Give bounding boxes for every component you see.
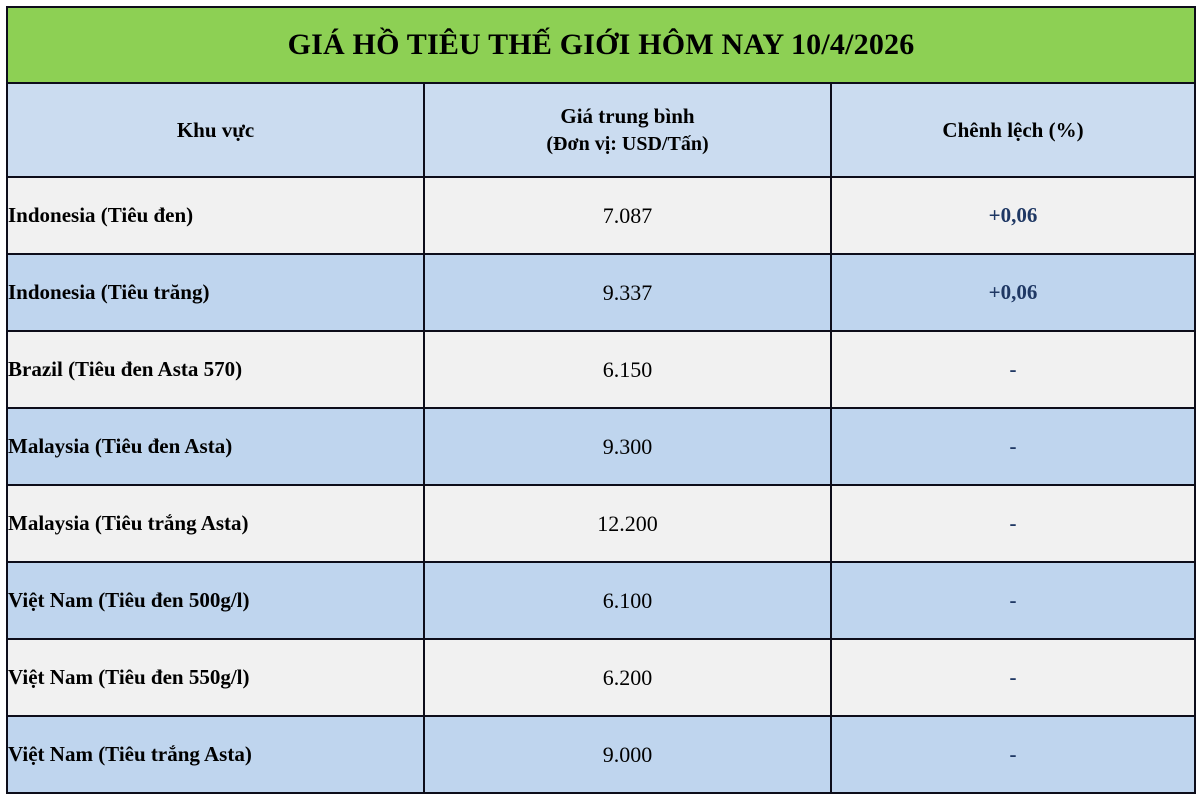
table-row: Việt Nam (Tiêu đen 500g/l)6.100- xyxy=(7,562,1195,639)
cell-price: 9.000 xyxy=(424,716,831,793)
cell-change: - xyxy=(831,716,1195,793)
cell-price: 6.100 xyxy=(424,562,831,639)
cell-region: Việt Nam (Tiêu trắng Asta) xyxy=(7,716,424,793)
table-row: Brazil (Tiêu đen Asta 570)6.150- xyxy=(7,331,1195,408)
cell-change: - xyxy=(831,331,1195,408)
cell-region: Việt Nam (Tiêu đen 500g/l) xyxy=(7,562,424,639)
table-head: GIÁ HỒ TIÊU THẾ GIỚI HÔM NAY 10/4/2026 K… xyxy=(7,7,1195,177)
cell-change: - xyxy=(831,562,1195,639)
cell-price: 6.200 xyxy=(424,639,831,716)
cell-region: Indonesia (Tiêu đen) xyxy=(7,177,424,254)
column-header-price-line1: Giá trung bình xyxy=(560,104,694,128)
cell-price: 7.087 xyxy=(424,177,831,254)
column-header-price-unit: (Đơn vị: USD/Tấn) xyxy=(425,131,830,158)
table-row: Malaysia (Tiêu đen Asta)9.300- xyxy=(7,408,1195,485)
cell-price: 9.337 xyxy=(424,254,831,331)
cell-price: 6.150 xyxy=(424,331,831,408)
table-row: Malaysia (Tiêu trắng Asta)12.200- xyxy=(7,485,1195,562)
cell-region: Malaysia (Tiêu đen Asta) xyxy=(7,408,424,485)
column-header-change: Chênh lệch (%) xyxy=(831,83,1195,177)
table-row: Indonesia (Tiêu đen)7.087+0,06 xyxy=(7,177,1195,254)
table-row: Indonesia (Tiêu trăng)9.337+0,06 xyxy=(7,254,1195,331)
column-header-region: Khu vực xyxy=(7,83,424,177)
cell-change: - xyxy=(831,485,1195,562)
cell-price: 12.200 xyxy=(424,485,831,562)
cell-price: 9.300 xyxy=(424,408,831,485)
cell-region: Malaysia (Tiêu trắng Asta) xyxy=(7,485,424,562)
column-header-price: Giá trung bình (Đơn vị: USD/Tấn) xyxy=(424,83,831,177)
cell-change: - xyxy=(831,639,1195,716)
table-body: Indonesia (Tiêu đen)7.087+0,06Indonesia … xyxy=(7,177,1195,793)
cell-region: Indonesia (Tiêu trăng) xyxy=(7,254,424,331)
cell-change: - xyxy=(831,408,1195,485)
table-row: Việt Nam (Tiêu đen 550g/l)6.200- xyxy=(7,639,1195,716)
table-row: Việt Nam (Tiêu trắng Asta)9.000- xyxy=(7,716,1195,793)
cell-region: Brazil (Tiêu đen Asta 570) xyxy=(7,331,424,408)
cell-change: +0,06 xyxy=(831,177,1195,254)
cell-region: Việt Nam (Tiêu đen 550g/l) xyxy=(7,639,424,716)
pepper-price-table-container: GIÁ HỒ TIÊU THẾ GIỚI HÔM NAY 10/4/2026 K… xyxy=(6,6,1194,794)
title-row: GIÁ HỒ TIÊU THẾ GIỚI HÔM NAY 10/4/2026 xyxy=(7,7,1195,83)
table-title: GIÁ HỒ TIÊU THẾ GIỚI HÔM NAY 10/4/2026 xyxy=(7,7,1195,83)
column-header-row: Khu vực Giá trung bình (Đơn vị: USD/Tấn)… xyxy=(7,83,1195,177)
world-pepper-price-table: GIÁ HỒ TIÊU THẾ GIỚI HÔM NAY 10/4/2026 K… xyxy=(6,6,1196,794)
cell-change: +0,06 xyxy=(831,254,1195,331)
